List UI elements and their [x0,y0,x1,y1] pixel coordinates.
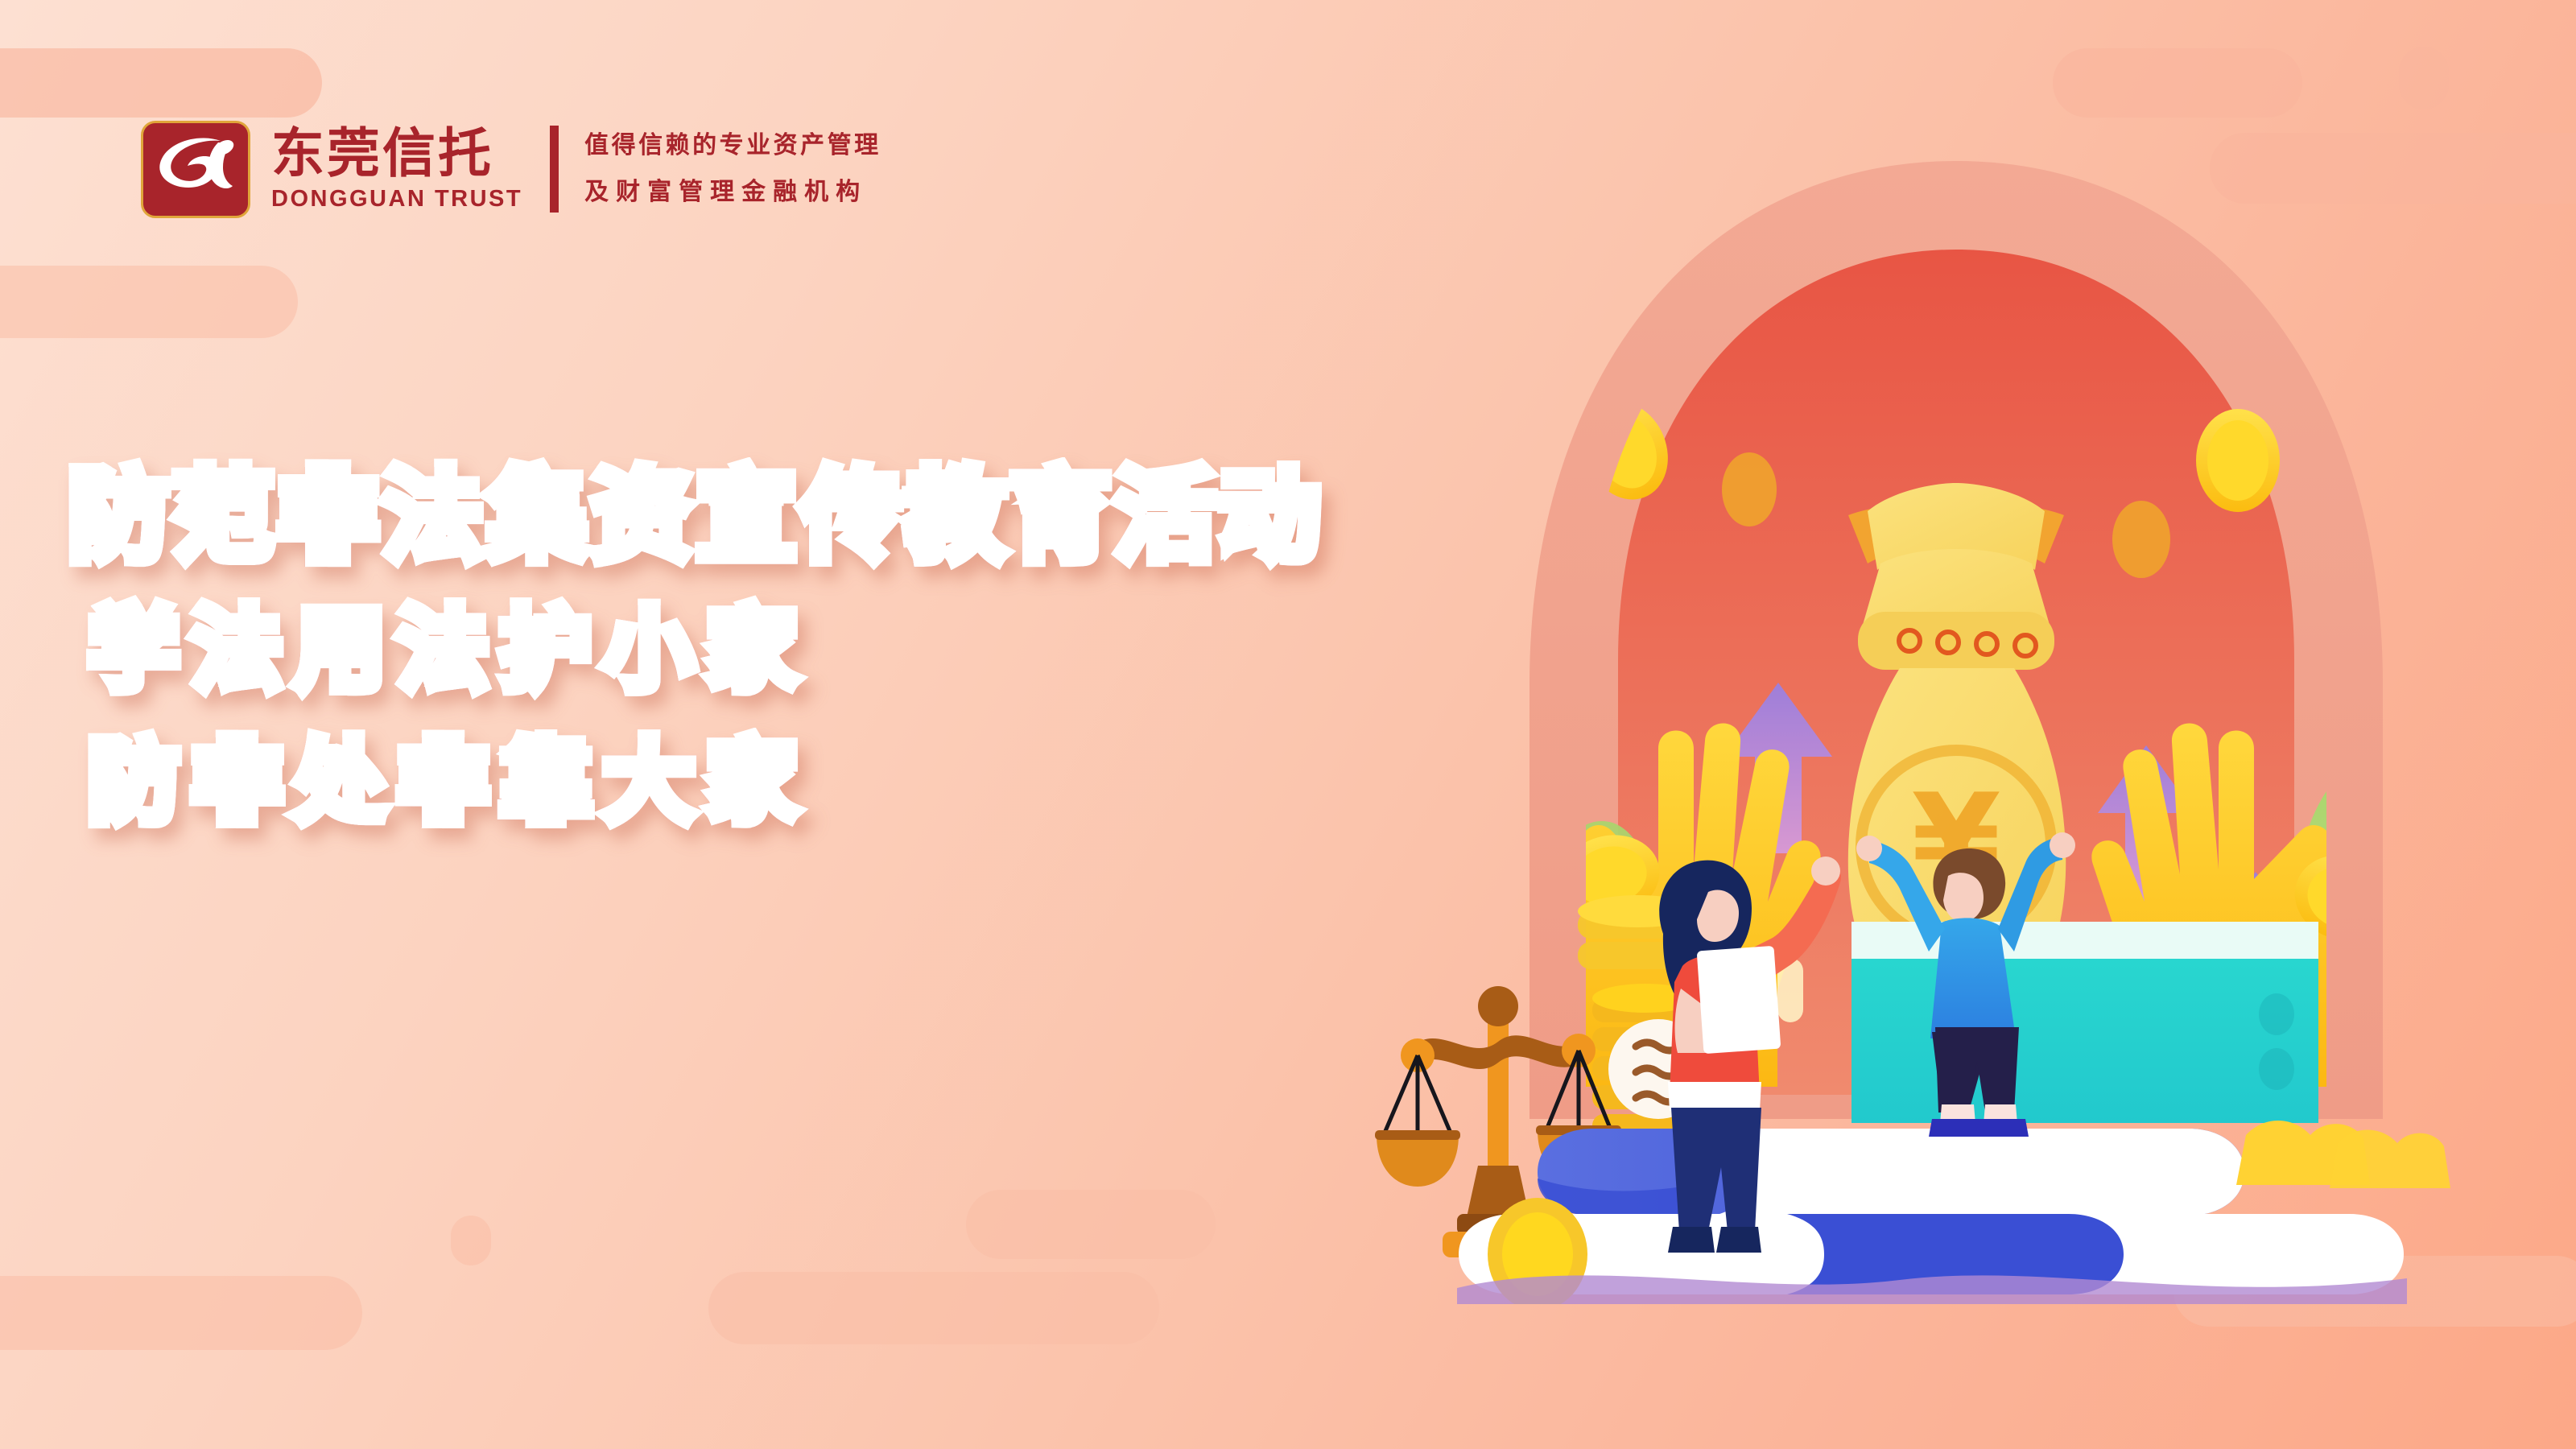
brand-tagline-line2: 及财富管理金融机构 [584,180,881,204]
decor-pill [451,1216,491,1265]
finance-illustration: ¥ [1336,48,2576,1304]
brand-name-cn: 东莞信托 [271,127,522,180]
logo-divider [550,126,559,213]
decor-pill [708,1272,1159,1344]
dongguan-trust-swoosh-logo-icon [141,121,250,218]
brand-tagline-line1: 值得信赖的专业资产管理 [584,134,881,158]
brand-name-en: DONGGUAN TRUST [271,188,522,211]
headline-line-1: 防范非法集资宣传教育活动 [68,467,1324,567]
decor-pill [0,48,322,118]
headline-line-2: 学法用法护小家 [89,605,810,696]
decor-pill [0,266,298,338]
brand-logo-lockup: 东莞信托 DONGGUAN TRUST 值得信赖的专业资产管理 及财富管理金融机… [141,121,881,217]
decor-pill [966,1190,1216,1259]
headline-line-3: 防非处非靠大家 [89,737,810,828]
headline-block: 防范非法集资宣传教育活动 学法用法护小家 防非处非靠大家 [0,467,1385,828]
promotional-banner: 东莞信托 DONGGUAN TRUST 值得信赖的专业资产管理 及财富管理金融机… [0,0,2576,1449]
decor-pill [0,1276,362,1350]
